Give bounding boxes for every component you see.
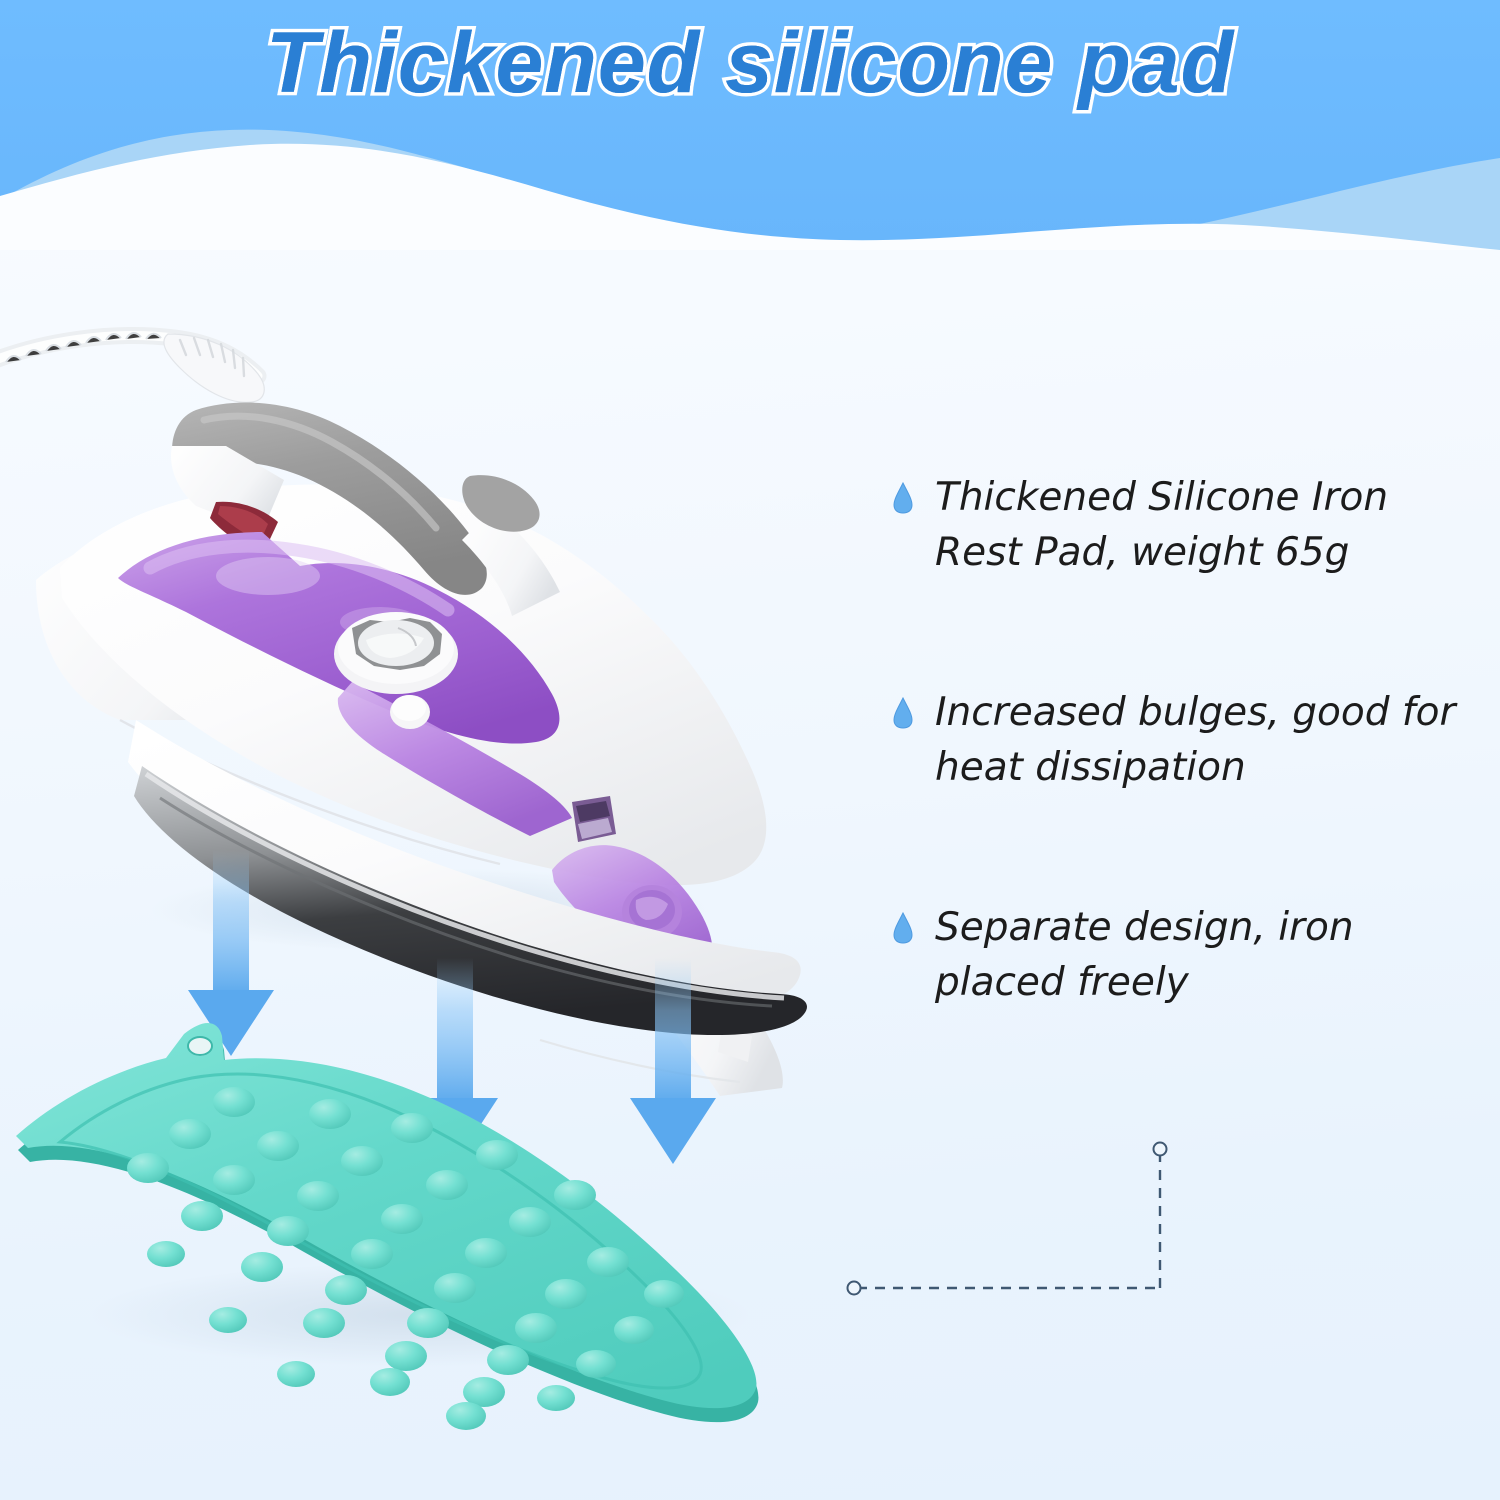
- power-cord: [0, 333, 264, 402]
- feature-item: Separate design, iron placed freely: [893, 900, 1493, 1011]
- cord-strain-relief: [164, 334, 264, 402]
- iron-temperature-dial: [334, 612, 458, 694]
- silicone-iron-rest-pad: [12, 1023, 758, 1430]
- guide-node-left: [848, 1282, 861, 1295]
- steam-iron: [36, 403, 807, 1096]
- guide-node-top: [1154, 1143, 1167, 1156]
- infographic-canvas: Thickened silicone pad Thickened silicon…: [0, 0, 1500, 1500]
- feature-text: Separate design, iron placed freely: [935, 900, 1475, 1011]
- feature-item: Increased bulges, good for heat dissipat…: [893, 685, 1493, 796]
- blue-droplet-icon: [893, 912, 913, 944]
- blue-droplet-icon: [893, 697, 913, 729]
- page-title-outline: Thickened silicone pad: [0, 14, 1500, 113]
- feature-text: Thickened Silicone Iron Rest Pad, weight…: [935, 470, 1475, 581]
- feature-item: Thickened Silicone Iron Rest Pad, weight…: [893, 470, 1493, 581]
- product-illustration: [0, 250, 880, 1500]
- feature-list: Thickened Silicone Iron Rest Pad, weight…: [893, 470, 1493, 1114]
- blue-droplet-icon: [893, 482, 913, 514]
- dimension-guides: [835, 1130, 1195, 1310]
- feature-text: Increased bulges, good for heat dissipat…: [935, 685, 1475, 796]
- iron-steam-slider: [572, 796, 616, 842]
